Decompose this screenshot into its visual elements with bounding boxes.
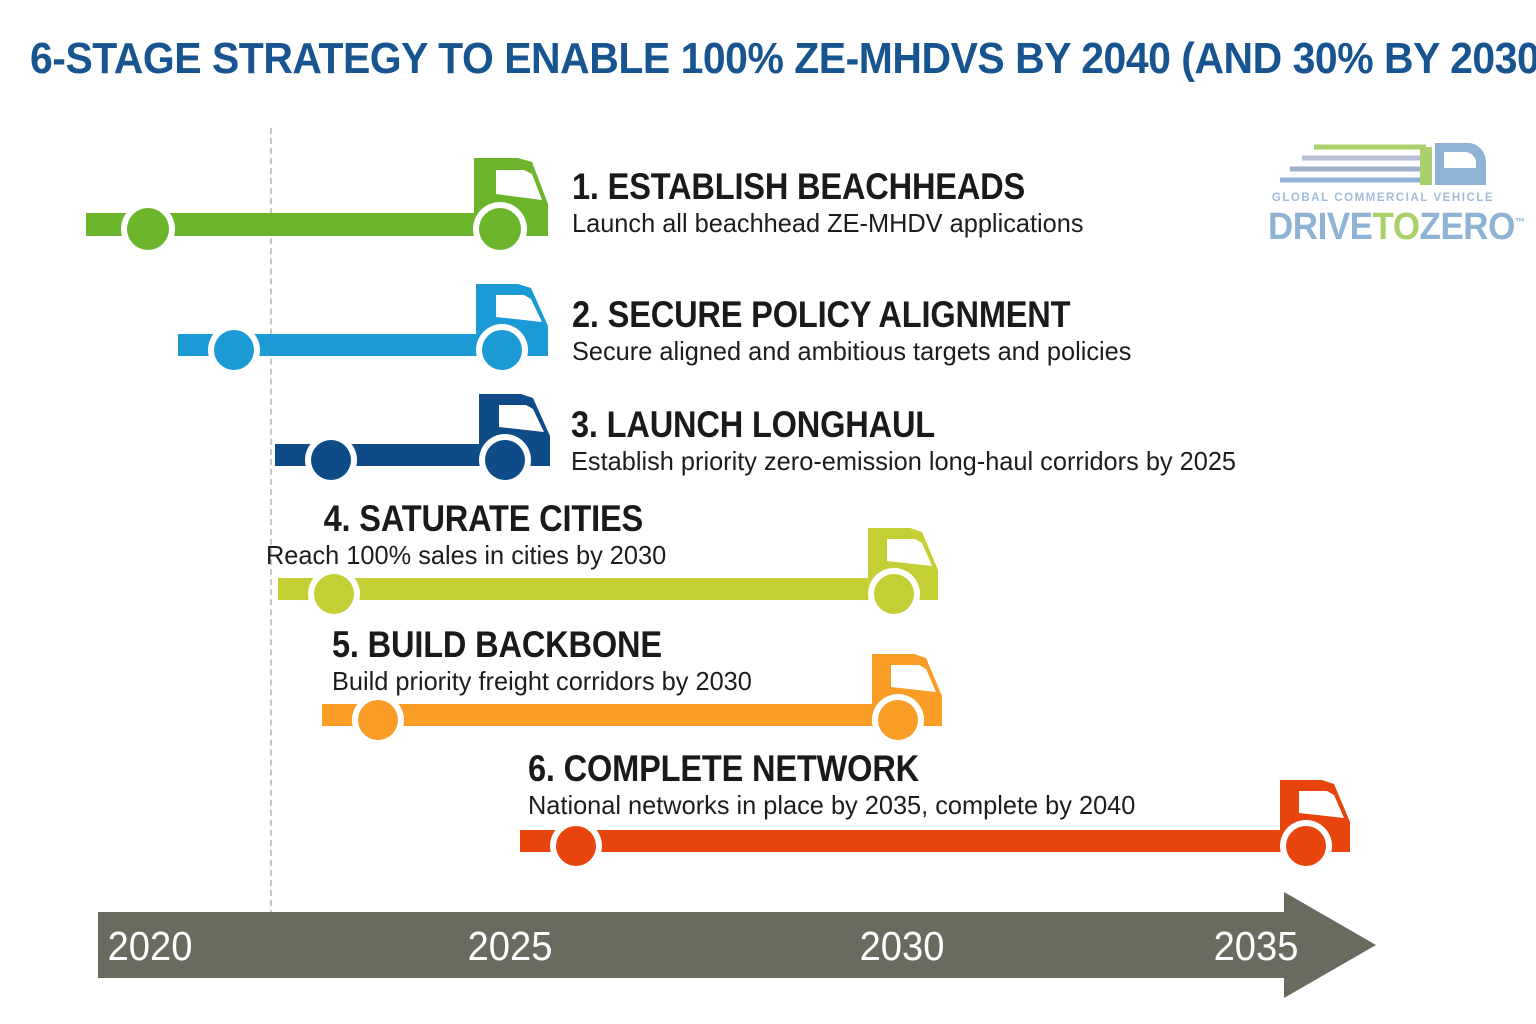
truck-icon (178, 278, 558, 393)
stage-1-heading: 1. ESTABLISH BEACHHEADS (572, 168, 1364, 206)
stage-3-subtitle: Establish priority zero-emission long-ha… (571, 446, 1449, 477)
timeline-bar (98, 912, 1296, 978)
logo-trademark-icon: ™ (1515, 216, 1525, 228)
stage-2-heading: 2. SECURE POLICY ALIGNMENT (572, 296, 1364, 334)
stage-row-5: 5. BUILD BACKBONE Build priority freight… (322, 648, 952, 758)
timeline-label-2035: 2035 (1214, 923, 1299, 970)
stage-3-text: 3. LAUNCH LONGHAUL Establish priority ze… (571, 406, 1471, 476)
stage-row-1: 1. ESTABLISH BEACHHEADS Launch all beach… (86, 150, 556, 268)
timeline-label-2020: 2020 (108, 923, 193, 970)
stage-6-heading: 6. COMPLETE NETWORK (528, 750, 1214, 788)
timeline-label-2025: 2025 (468, 923, 553, 970)
stage-1-text: 1. ESTABLISH BEACHHEADS Launch all beach… (572, 168, 1472, 238)
stage-2-text: 2. SECURE POLICY ALIGNMENT Secure aligne… (572, 296, 1472, 366)
infographic-canvas: 6-STAGE STRATEGY TO ENABLE 100% ZE-MHDVS… (0, 0, 1536, 1024)
stage-row-6: 6. COMPLETE NETWORK National networks in… (520, 772, 1360, 884)
stage-2-subtitle: Secure aligned and ambitious targets and… (572, 336, 1450, 367)
page-title: 6-STAGE STRATEGY TO ENABLE 100% ZE-MHDVS… (30, 34, 1416, 84)
stage-row-3: 3. LAUNCH LONGHAUL Establish priority ze… (275, 388, 560, 496)
stage-4-text: 4. SATURATE CITIES Reach 100% sales in c… (266, 500, 746, 570)
stage-4-subtitle: Reach 100% sales in cities by 2030 (266, 540, 734, 571)
stage-row-4: 4. SATURATE CITIES Reach 100% sales in c… (278, 522, 948, 632)
stage-6-subtitle: National networks in place by 2035, comp… (528, 790, 1289, 821)
timeline-arrow: 2020 2025 2030 2035 (98, 912, 1378, 978)
stage-3-heading: 3. LAUNCH LONGHAUL (571, 406, 1363, 444)
stage-6-text: 6. COMPLETE NETWORK National networks in… (528, 750, 1308, 820)
stage-5-heading: 5. BUILD BACKBONE (332, 626, 825, 664)
timeline-label-2030: 2030 (860, 923, 945, 970)
stage-1-subtitle: Launch all beachhead ZE-MHDV application… (572, 208, 1450, 239)
stage-row-2: 2. SECURE POLICY ALIGNMENT Secure aligne… (178, 278, 558, 388)
truck-icon (86, 150, 556, 273)
stage-4-heading: 4. SATURATE CITIES (324, 500, 746, 538)
truck-icon (275, 388, 560, 501)
stage-5-subtitle: Build priority freight corridors by 2030 (332, 666, 878, 697)
stage-5-text: 5. BUILD BACKBONE Build priority freight… (332, 626, 892, 696)
